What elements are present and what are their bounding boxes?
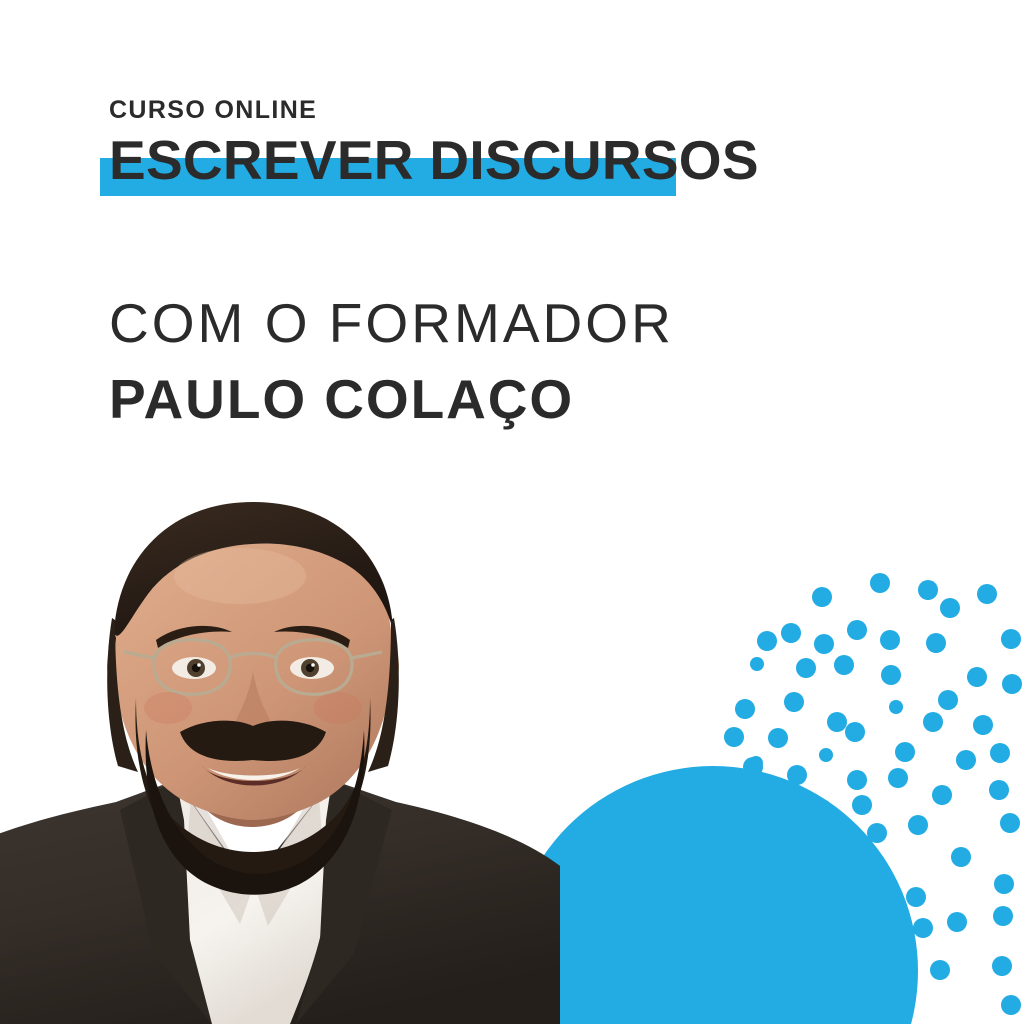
- decorative-dot: [870, 573, 890, 593]
- decorative-dot: [926, 633, 946, 653]
- decorative-dot: [781, 623, 801, 643]
- decorative-dot: [990, 743, 1010, 763]
- decorative-dot: [812, 587, 832, 607]
- decorative-dot: [994, 874, 1014, 894]
- decorative-dot: [895, 742, 915, 762]
- decorative-dot: [940, 598, 960, 618]
- decorative-dot: [947, 912, 967, 932]
- decorative-dot: [973, 715, 993, 735]
- decorative-dot: [906, 887, 926, 907]
- decorative-dot: [796, 658, 816, 678]
- course-kicker: CURSO ONLINE: [109, 98, 317, 123]
- presenter-portrait: [0, 480, 560, 1024]
- decorative-dot: [750, 657, 764, 671]
- decorative-dot: [834, 655, 854, 675]
- decorative-dot: [845, 722, 865, 742]
- decorative-dot: [992, 956, 1012, 976]
- decorative-dot: [819, 748, 833, 762]
- decorative-dot: [1000, 813, 1020, 833]
- decorative-dot: [881, 665, 901, 685]
- decorative-dot: [1002, 674, 1022, 694]
- decorative-dot: [956, 750, 976, 770]
- poster-canvas: CURSO ONLINE ESCREVER DISCURSOS COM O FO…: [0, 0, 1024, 1024]
- moustache-shape: [180, 721, 326, 761]
- course-title: ESCREVER DISCURSOS: [109, 132, 759, 190]
- decorative-dot: [913, 918, 933, 938]
- decorative-dot: [735, 699, 755, 719]
- decorative-dot: [757, 631, 777, 651]
- decorative-dot: [923, 712, 943, 732]
- headline-group: ESCREVER DISCURSOS: [100, 132, 700, 202]
- decorative-dot: [908, 815, 928, 835]
- decorative-dot: [768, 728, 788, 748]
- decorative-dot: [932, 785, 952, 805]
- presenter-prefix-label: COM O FORMADOR: [109, 296, 674, 351]
- decorative-dot: [967, 667, 987, 687]
- decorative-dot: [930, 960, 950, 980]
- decorative-dot: [918, 580, 938, 600]
- decorative-dot: [977, 584, 997, 604]
- decorative-dot: [847, 620, 867, 640]
- decorative-dot: [938, 690, 958, 710]
- decorative-dot: [1001, 629, 1021, 649]
- decorative-dot: [889, 700, 903, 714]
- decorative-dot: [951, 847, 971, 867]
- decorative-dot: [784, 692, 804, 712]
- decorative-dot: [852, 795, 872, 815]
- decorative-dot: [847, 770, 867, 790]
- decorative-dot: [993, 906, 1013, 926]
- presenter-name: PAULO COLAÇO: [109, 372, 574, 427]
- decorative-dot: [749, 756, 763, 770]
- decorative-dot: [814, 634, 834, 654]
- blue-circle-shape: [508, 766, 918, 1024]
- decorative-dot: [827, 712, 847, 732]
- decorative-dot: [1001, 995, 1021, 1015]
- decorative-dot: [880, 630, 900, 650]
- decorative-dot: [989, 780, 1009, 800]
- decorative-dot: [888, 768, 908, 788]
- decorative-dot: [724, 727, 744, 747]
